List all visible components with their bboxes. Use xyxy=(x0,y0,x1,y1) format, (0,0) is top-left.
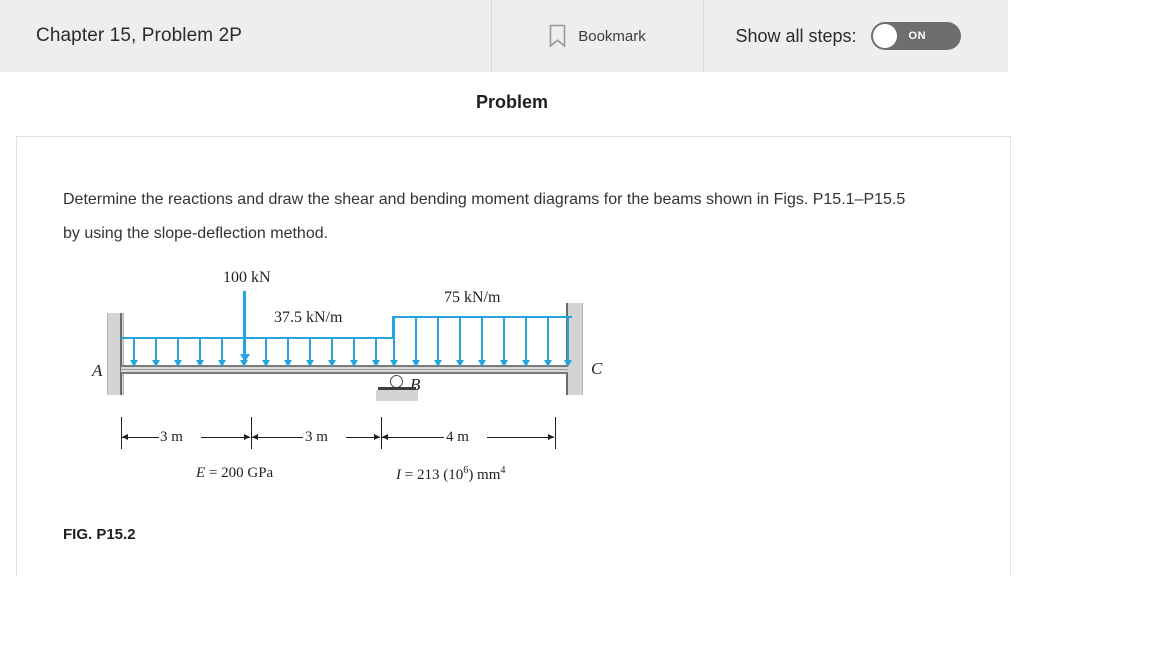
udl-right-arrow xyxy=(415,318,417,361)
bookmark-label: Bookmark xyxy=(578,28,646,45)
point-load-label: 100 kN xyxy=(223,269,271,287)
dim-arrowhead xyxy=(548,434,554,440)
show-all-steps-label: Show all steps: xyxy=(735,26,856,47)
udl-left-arrow xyxy=(265,339,267,361)
page-title: Chapter 15, Problem 2P xyxy=(36,25,242,47)
section-heading: Problem xyxy=(0,92,1024,113)
dim-line-2 xyxy=(252,437,303,438)
inertia-label: I = 213 (106) mm4 xyxy=(396,465,506,484)
dim-arrowhead xyxy=(244,434,250,440)
dimension-label-1: 3 m xyxy=(160,429,183,446)
toggle-knob xyxy=(873,24,897,48)
dim-line-3 xyxy=(487,437,554,438)
dimension-label-2: 3 m xyxy=(305,429,328,446)
modulus-symbol: E xyxy=(196,465,205,481)
udl-left-arrow xyxy=(375,339,377,361)
udl-left-arrow xyxy=(199,339,201,361)
udl-left-arrow xyxy=(309,339,311,361)
dim-arrowhead xyxy=(122,434,128,440)
udl-left-arrow xyxy=(353,339,355,361)
dim-line-1 xyxy=(201,437,250,438)
top-header-bar: Chapter 15, Problem 2P Bookmark Show all… xyxy=(0,0,1008,72)
problem-statement: Determine the reactions and draw the she… xyxy=(63,183,923,251)
dimension-label-3: 4 m xyxy=(446,429,469,446)
modulus-label: E = 200 GPa xyxy=(196,465,273,482)
udl-right-arrow xyxy=(437,318,439,361)
show-all-steps-toggle[interactable]: ON xyxy=(871,22,961,50)
show-all-steps-cell: Show all steps: ON xyxy=(704,0,1008,72)
beam-centerline xyxy=(121,369,568,370)
dim-arrowhead xyxy=(382,434,388,440)
inertia-unit-exponent: 4 xyxy=(500,465,505,476)
udl-left-arrow xyxy=(331,339,333,361)
udl-right-arrow xyxy=(459,318,461,361)
udl-right-arrow xyxy=(525,318,527,361)
udl-left-arrow xyxy=(221,339,223,361)
udl-left-arrow xyxy=(155,339,157,361)
udl-right-arrow xyxy=(503,318,505,361)
beam-figure: 100 kN 37.5 kN/m 75 kN/m A B C xyxy=(63,265,603,505)
bookmark-icon xyxy=(549,24,566,48)
dim-arrowhead xyxy=(252,434,258,440)
dim-line-3 xyxy=(382,437,444,438)
node-label-c: C xyxy=(591,359,602,379)
dim-tick xyxy=(555,417,556,449)
udl-right-label: 75 kN/m xyxy=(444,289,500,307)
point-load-arrow xyxy=(243,291,246,355)
dim-tick xyxy=(121,417,122,449)
bookmark-button[interactable]: Bookmark xyxy=(492,0,704,72)
udl-right-arrow xyxy=(393,318,395,361)
chapter-title-cell: Chapter 15, Problem 2P xyxy=(0,0,492,72)
support-fixed-left-face xyxy=(120,313,122,395)
node-label-a: A xyxy=(92,361,102,381)
udl-left-top-line xyxy=(121,337,392,339)
dim-tick xyxy=(381,417,382,449)
inertia-body: = 213 (10 xyxy=(401,467,463,483)
toggle-state-label: ON xyxy=(909,30,927,42)
roller-base-block xyxy=(376,390,418,401)
inertia-suffix: ) mm xyxy=(468,467,500,483)
modulus-value: = 200 GPa xyxy=(205,465,273,481)
udl-left-arrow xyxy=(287,339,289,361)
dim-arrowhead xyxy=(374,434,380,440)
udl-left-arrow xyxy=(133,339,135,361)
udl-right-arrow xyxy=(481,318,483,361)
dim-tick xyxy=(251,417,252,449)
udl-right-arrow xyxy=(567,318,569,361)
problem-content-panel: Determine the reactions and draw the she… xyxy=(16,136,1011,576)
udl-left-arrow xyxy=(177,339,179,361)
figure-caption: FIG. P15.2 xyxy=(63,526,136,543)
udl-left-label: 37.5 kN/m xyxy=(274,309,342,327)
udl-right-arrow xyxy=(547,318,549,361)
